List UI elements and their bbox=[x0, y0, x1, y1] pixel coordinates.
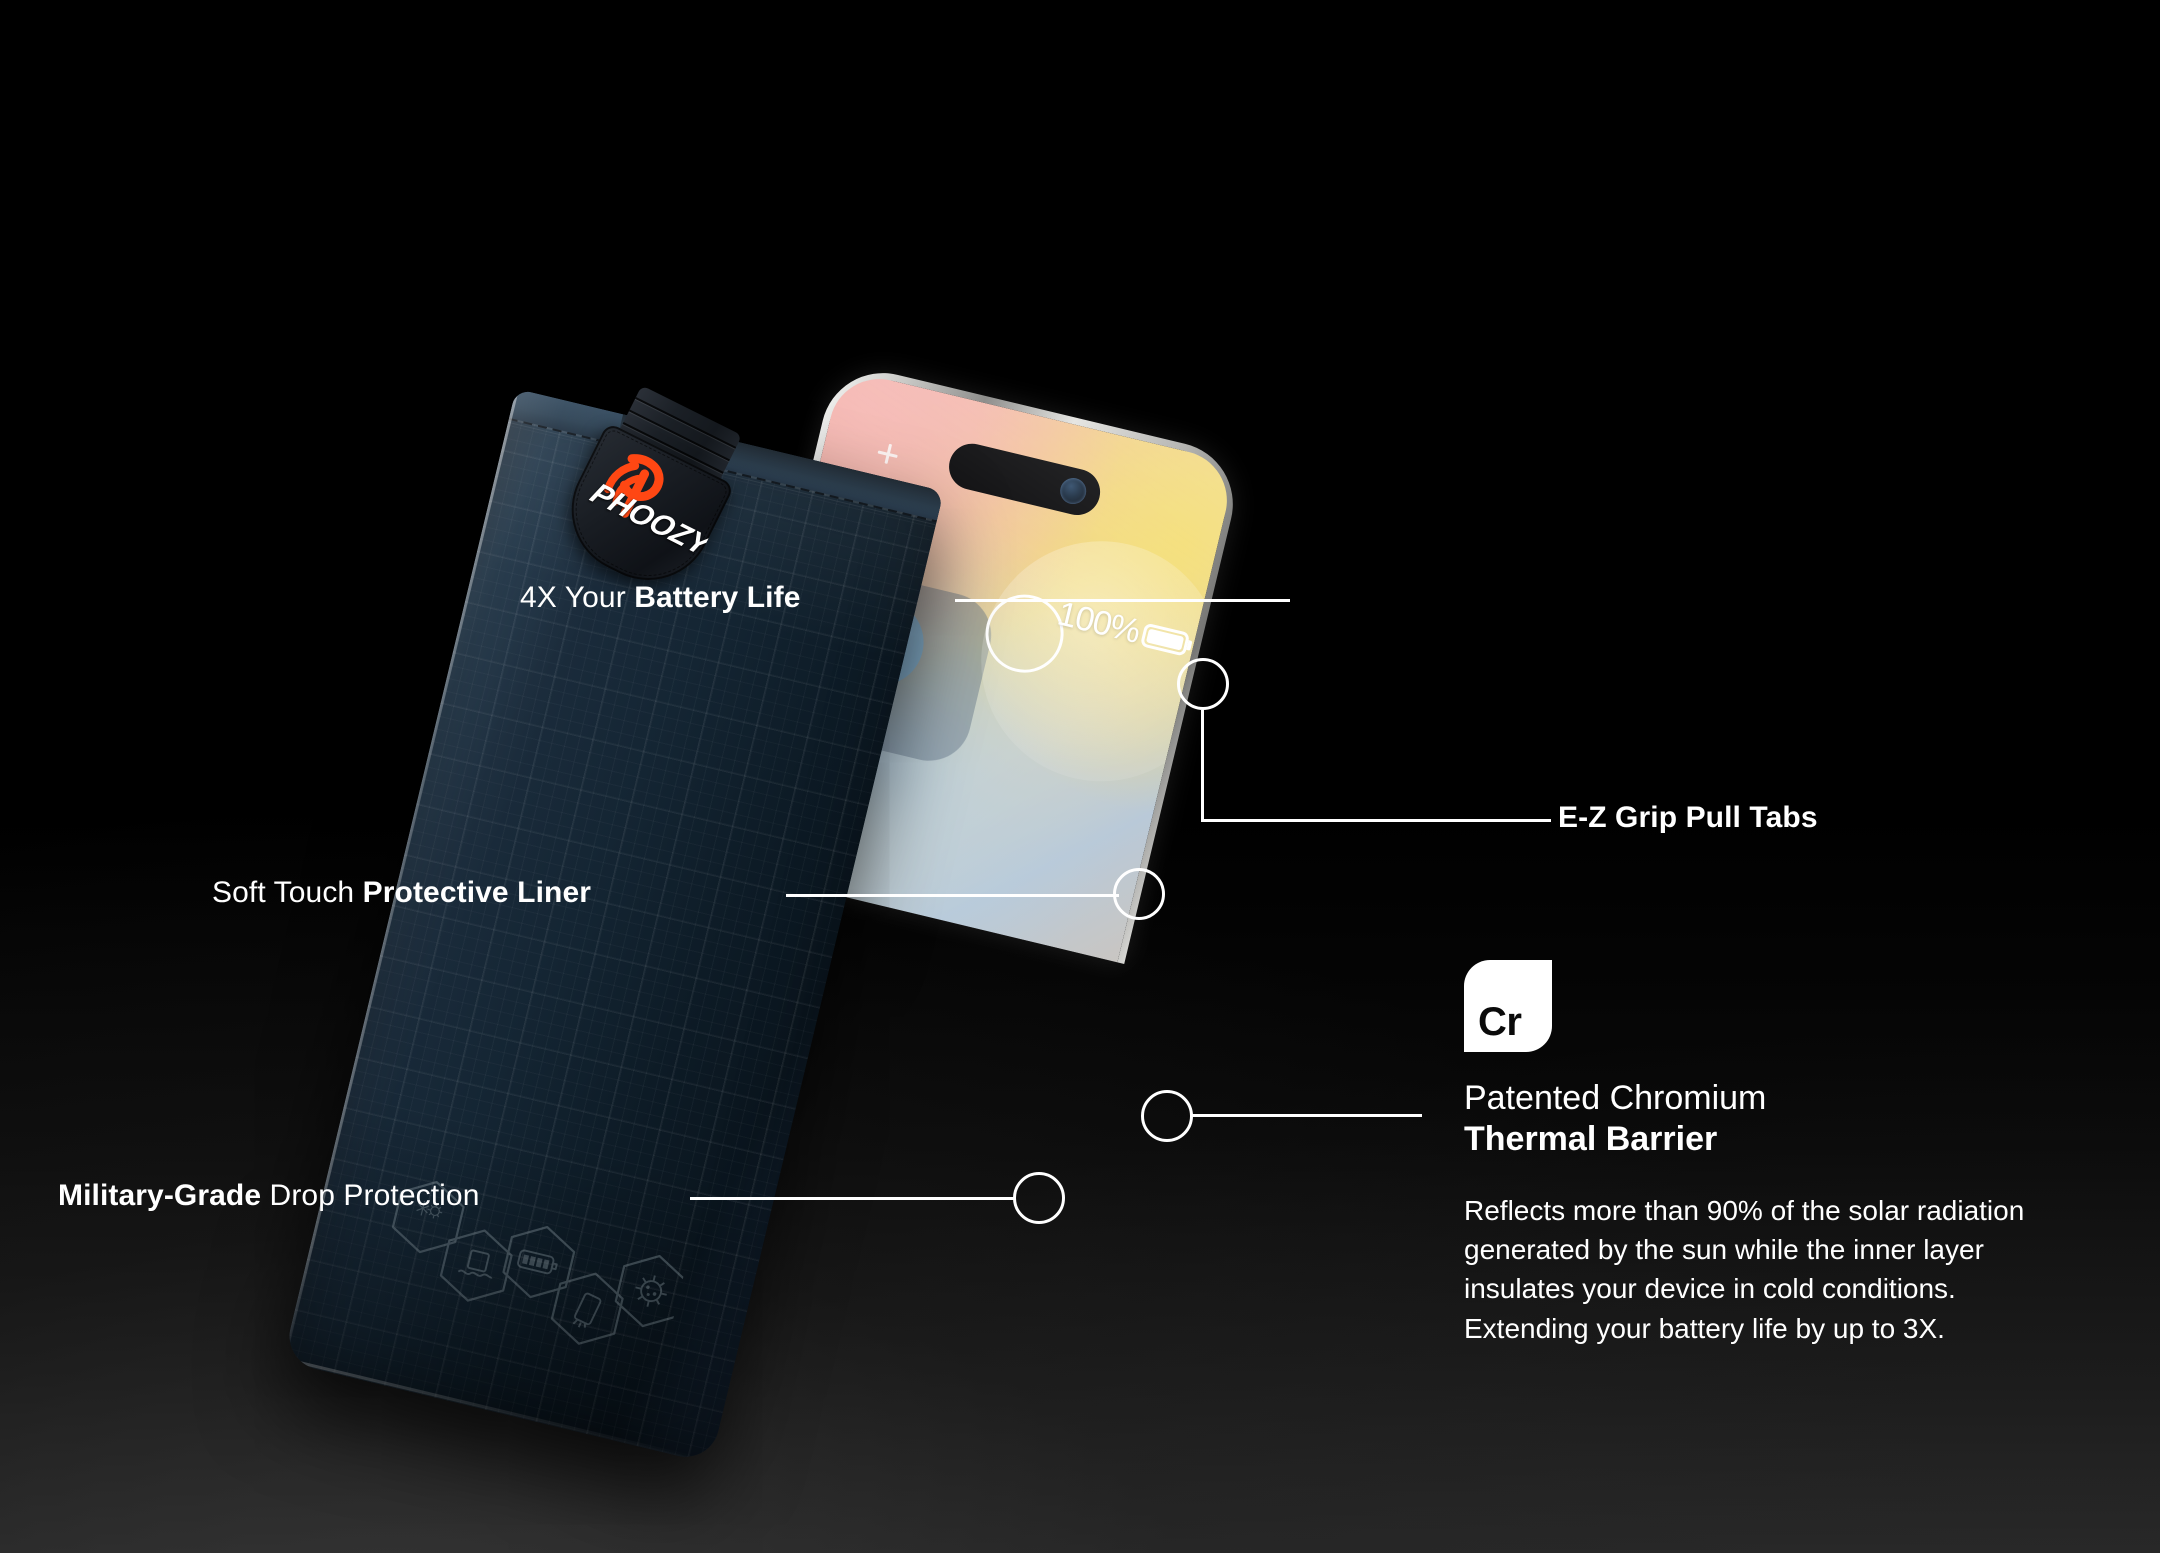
leader-line-pull-tabs bbox=[1201, 819, 1551, 822]
callout-label-protective-liner: Soft Touch Protective Liner bbox=[212, 875, 591, 910]
callout-marker-pull-tabs[interactable] bbox=[1177, 658, 1229, 710]
infographic-stage: 100% bbox=[0, 0, 2160, 1553]
leader-line-thermal-barrier bbox=[1192, 1114, 1422, 1117]
callout-marker-thermal-barrier[interactable] bbox=[1141, 1090, 1193, 1142]
callout-label-pull-tabs: E-Z Grip Pull Tabs bbox=[1558, 800, 1818, 835]
leader-line-drop-protection bbox=[690, 1197, 1015, 1200]
leader-vline-pull-tabs bbox=[1201, 710, 1204, 822]
leader-line-protective-liner bbox=[786, 894, 1119, 897]
callout-label-battery-life: 4X Your Battery Life bbox=[520, 580, 801, 615]
callout-marker-protective-liner[interactable] bbox=[1113, 868, 1165, 920]
callout-marker-drop-protection[interactable] bbox=[1013, 1172, 1065, 1224]
leader-line-battery-life bbox=[955, 599, 1290, 602]
callout-layer: 4X Your Battery Life E-Z Grip Pull Tabs … bbox=[0, 0, 2160, 1553]
callout-label-drop-protection: Military-Grade Drop Protection bbox=[58, 1178, 480, 1213]
